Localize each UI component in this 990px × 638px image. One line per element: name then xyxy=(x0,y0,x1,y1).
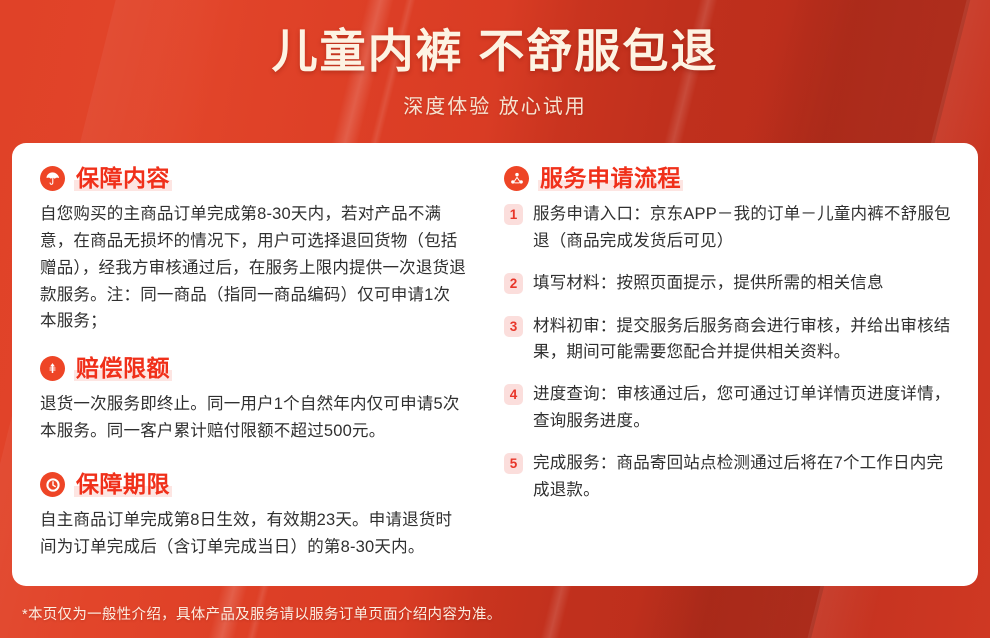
yen-coin-icon xyxy=(40,356,65,381)
list-item: 2 填写材料：按照页面提示，提供所需的相关信息 xyxy=(504,270,954,296)
step-text: 服务申请入口：京东APP－我的订单－儿童内裤不舒服包退（商品完成发货后可见） xyxy=(533,201,954,254)
step-text: 进度查询：审核通过后，您可通过订单详情页进度详情，查询服务进度。 xyxy=(533,381,954,434)
section-title: 保障期限 xyxy=(74,471,172,498)
section-guarantee-content: 保障内容 自您购买的主商品订单完成第8-30天内，若对产品不满意，在商品无损坏的… xyxy=(40,165,466,335)
process-column: 服务申请流程 1 服务申请入口：京东APP－我的订单－儿童内裤不舒服包退（商品完… xyxy=(492,143,978,586)
list-item: 3 材料初审：提交服务后服务商会进行审核，并给出审核结果，期间可能需要您配合并提… xyxy=(504,313,954,366)
step-text: 完成服务：商品寄回站点检测通过后将在7个工作日内完成退款。 xyxy=(533,450,954,503)
step-number-badge: 3 xyxy=(504,316,523,337)
section-title: 保障内容 xyxy=(74,165,172,192)
section-title: 赔偿限额 xyxy=(74,355,172,382)
section-compensation-limit: 赔偿限额 退货一次服务即终止。同一用户1个自然年内仅可申请5次本服务。同一客户累… xyxy=(40,355,466,445)
list-item: 4 进度查询：审核通过后，您可通过订单详情页进度详情，查询服务进度。 xyxy=(504,381,954,434)
clock-icon xyxy=(40,472,65,497)
step-number-badge: 2 xyxy=(504,273,523,294)
list-item: 5 完成服务：商品寄回站点检测通过后将在7个工作日内完成退款。 xyxy=(504,450,954,503)
section-guarantee-period: 保障期限 自主商品订单完成第8日生效，有效期23天。申请退货时间为订单完成后（含… xyxy=(40,471,466,561)
section-header: 服务申请流程 xyxy=(504,165,954,192)
guarantee-column: 保障内容 自您购买的主商品订单完成第8-30天内，若对产品不满意，在商品无损坏的… xyxy=(12,143,492,586)
section-title: 服务申请流程 xyxy=(538,165,683,192)
section-header: 保障期限 xyxy=(40,471,466,498)
content-card: 保障内容 自您购买的主商品订单完成第8-30天内，若对产品不满意，在商品无损坏的… xyxy=(12,143,978,586)
umbrella-icon xyxy=(40,166,65,191)
section-body: 退货一次服务即终止。同一用户1个自然年内仅可申请5次本服务。同一客户累计赔付限额… xyxy=(40,391,466,444)
step-number-badge: 1 xyxy=(504,204,523,225)
step-number-badge: 4 xyxy=(504,384,523,405)
disclaimer-note: *本页仅为一般性介绍，具体产品及服务请以服务订单页面介绍内容为准。 xyxy=(22,603,502,624)
network-share-icon xyxy=(504,166,529,191)
section-body: 自您购买的主商品订单完成第8-30天内，若对产品不满意，在商品无损坏的情况下，用… xyxy=(40,201,466,335)
step-number-badge: 5 xyxy=(504,453,523,474)
banner-header: 儿童内裤 不舒服包退 深度体验 放心试用 xyxy=(0,0,990,143)
step-text: 填写材料：按照页面提示，提供所需的相关信息 xyxy=(533,270,954,296)
process-step-list: 1 服务申请入口：京东APP－我的订单－儿童内裤不舒服包退（商品完成发货后可见）… xyxy=(504,201,954,503)
step-text: 材料初审：提交服务后服务商会进行审核，并给出审核结果，期间可能需要您配合并提供相… xyxy=(533,313,954,366)
list-item: 1 服务申请入口：京东APP－我的订单－儿童内裤不舒服包退（商品完成发货后可见） xyxy=(504,201,954,254)
section-body: 自主商品订单完成第8日生效，有效期23天。申请退货时间为订单完成后（含订单完成当… xyxy=(40,507,466,560)
page-subtitle: 深度体验 放心试用 xyxy=(0,90,990,119)
section-header: 赔偿限额 xyxy=(40,355,466,382)
page-title: 儿童内裤 不舒服包退 xyxy=(0,26,990,78)
section-header: 保障内容 xyxy=(40,165,466,192)
